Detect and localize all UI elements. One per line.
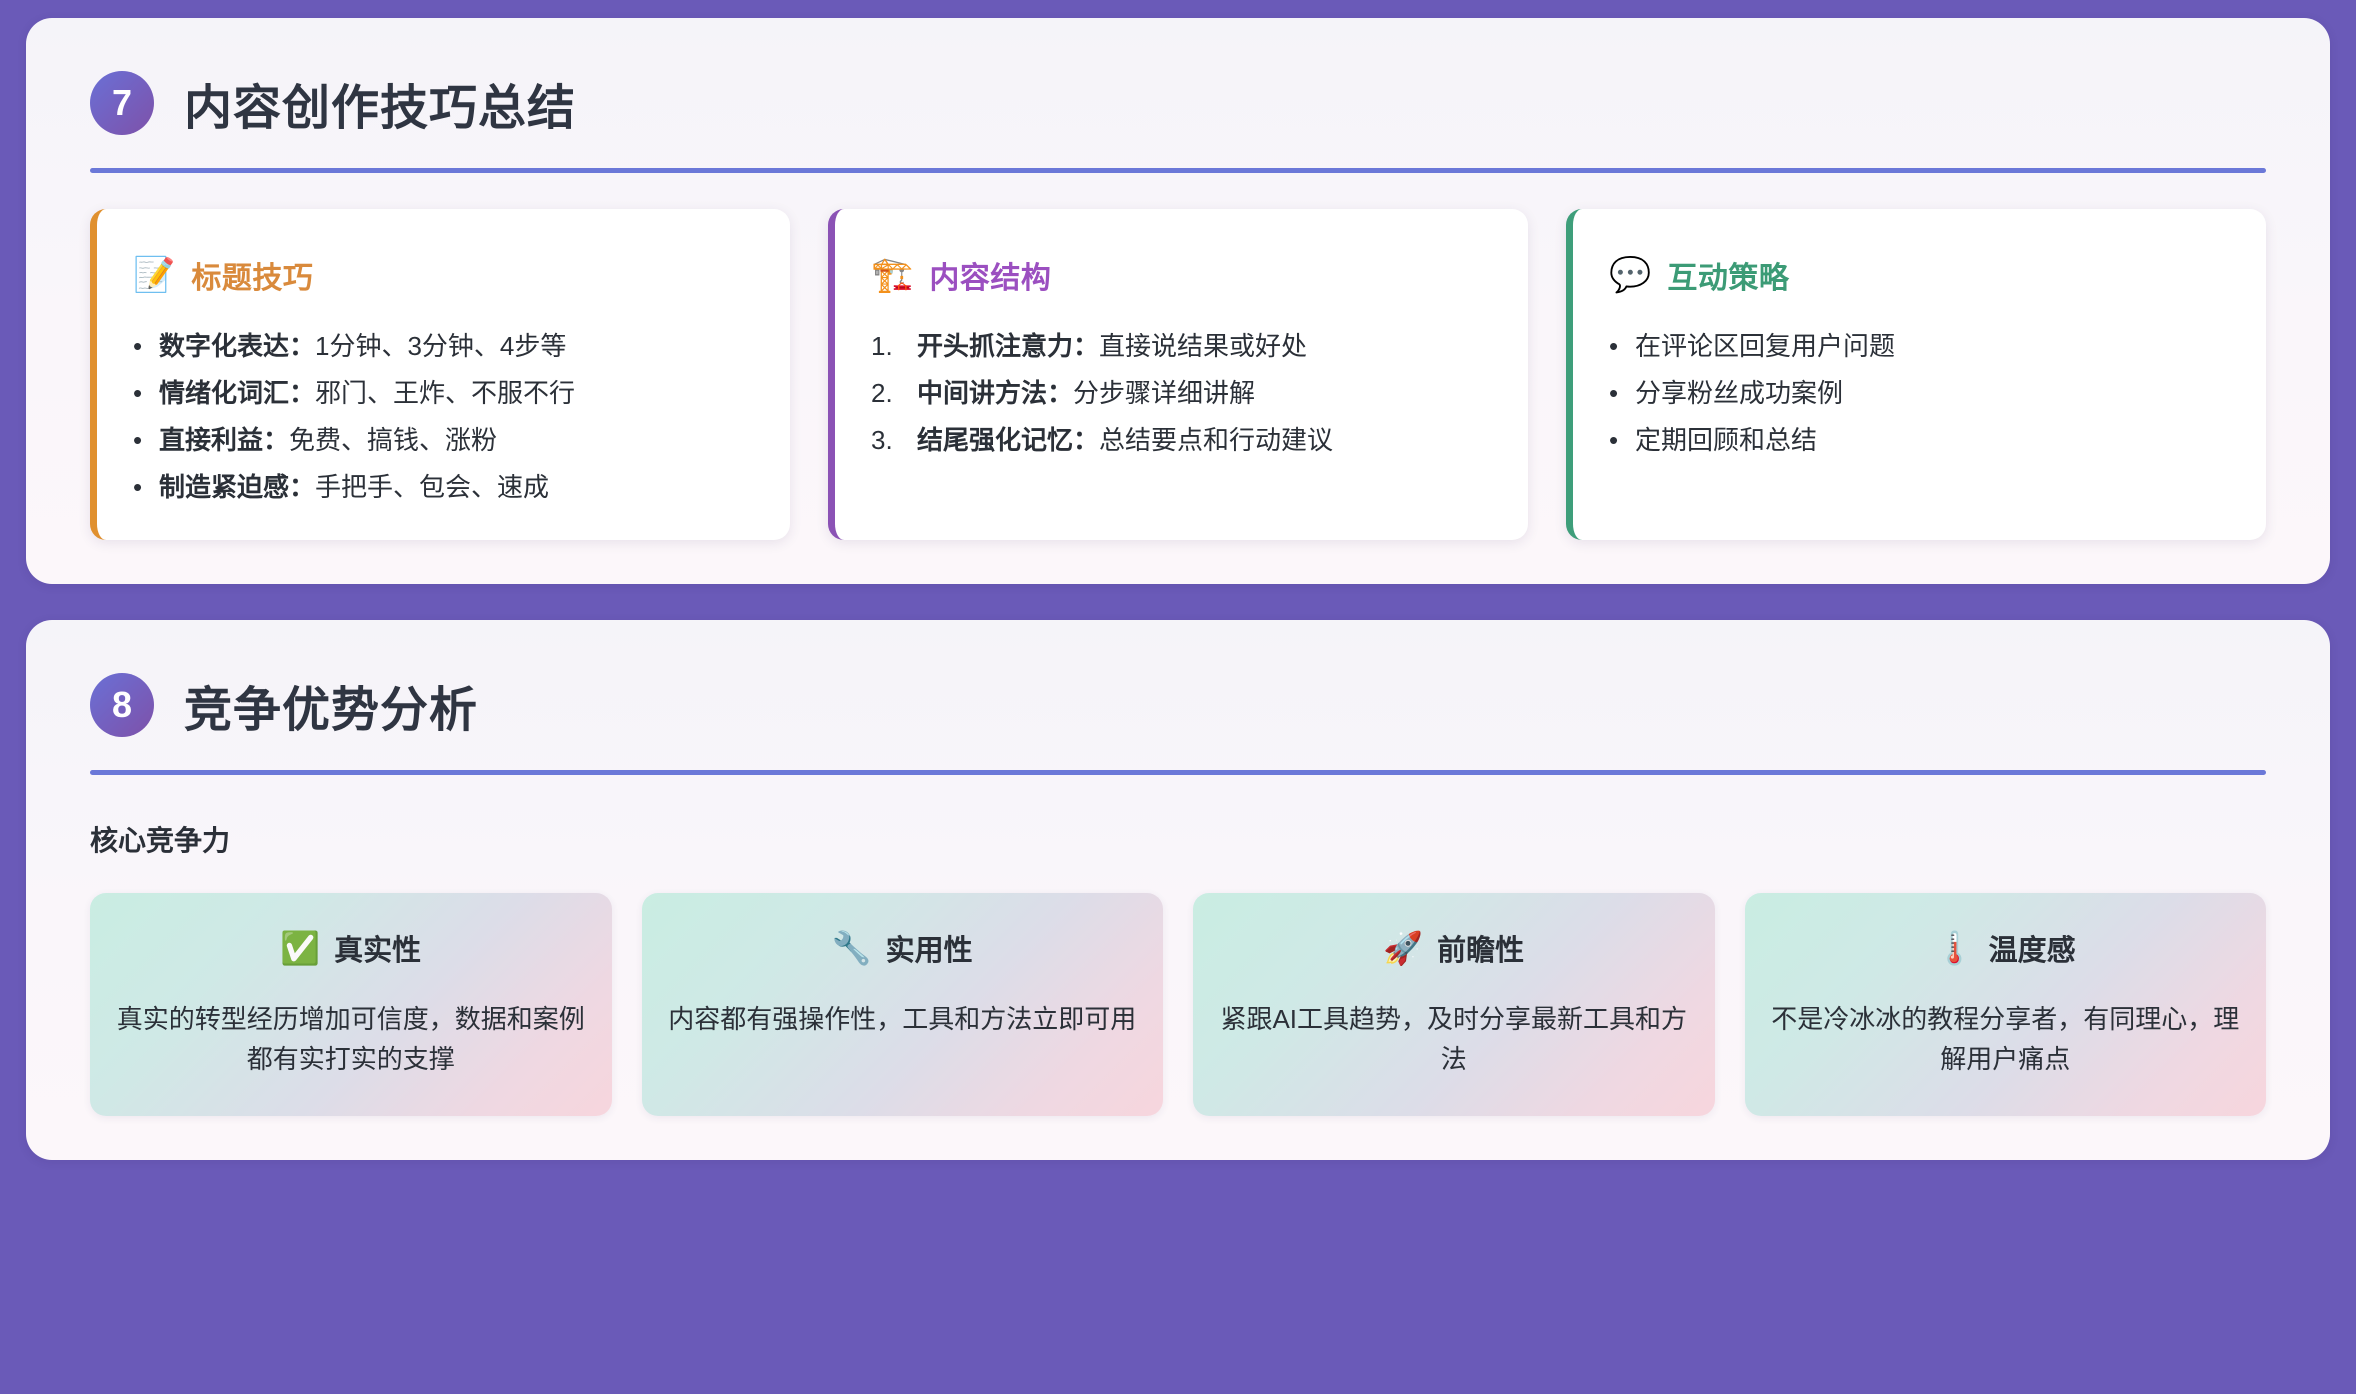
technique-card-title-skills[interactable]: 📝 标题技巧 •数字化表达：1分钟、3分钟、4步等•情绪化词汇：邪门、王炸、不服… bbox=[90, 209, 790, 540]
list-item-text: 数字化表达：1分钟、3分钟、4步等 bbox=[159, 333, 566, 359]
technique-card-interaction-strategy[interactable]: 💬 互动策略 •在评论区回复用户问题•分享粉丝成功案例•定期回顾和总结 bbox=[1566, 209, 2266, 540]
card-description: 紧跟AI工具趋势，及时分享最新工具和方法 bbox=[1219, 999, 1689, 1080]
technique-card-content-structure[interactable]: 🏗️ 内容结构 1.开头抓注意力：直接说结果或好处2.中间讲方法：分步骤详细讲解… bbox=[828, 209, 1528, 540]
card-header: 🚀 前瞻性 bbox=[1219, 927, 1689, 969]
list-item: •在评论区回复用户问题 bbox=[1609, 333, 2232, 380]
list-item-text: 中间讲方法：分步骤详细讲解 bbox=[917, 380, 1255, 406]
thermometer-icon: 🌡️ bbox=[1935, 932, 1975, 964]
card-title: 温度感 bbox=[1989, 927, 2076, 969]
list-item: 1.开头抓注意力：直接说结果或好处 bbox=[871, 333, 1494, 380]
competency-card-authenticity[interactable]: ✅ 真实性 真实的转型经历增加可信度，数据和案例都有实打实的支撑 bbox=[90, 893, 612, 1116]
list-item: •定期回顾和总结 bbox=[1609, 427, 2232, 453]
card-header: 📝 标题技巧 bbox=[133, 253, 756, 297]
list-item-label: 制造紧迫感： bbox=[159, 472, 315, 502]
list-item-label: 开头抓注意力： bbox=[917, 331, 1099, 361]
card-header: 💬 互动策略 bbox=[1609, 253, 2232, 297]
card-list: 1.开头抓注意力：直接说结果或好处2.中间讲方法：分步骤详细讲解3.结尾强化记忆… bbox=[871, 333, 1494, 453]
list-number: 1. bbox=[871, 333, 905, 359]
section-number-badge-8: 8 bbox=[90, 673, 154, 737]
speech-balloon-icon: 💬 bbox=[1609, 258, 1651, 292]
card-list: •数字化表达：1分钟、3分钟、4步等•情绪化词汇：邪门、王炸、不服不行•直接利益… bbox=[133, 333, 756, 500]
memo-icon: 📝 bbox=[133, 258, 175, 292]
card-title: 前瞻性 bbox=[1437, 927, 1524, 969]
crane-icon: 🏗️ bbox=[871, 258, 913, 292]
list-bullet: • bbox=[1609, 380, 1623, 406]
card-description: 不是冷冰冰的教程分享者，有同理心，理解用户痛点 bbox=[1771, 999, 2241, 1080]
technique-card-row: 📝 标题技巧 •数字化表达：1分钟、3分钟、4步等•情绪化词汇：邪门、王炸、不服… bbox=[90, 209, 2266, 540]
rocket-icon: 🚀 bbox=[1383, 932, 1423, 964]
check-mark-button-icon: ✅ bbox=[280, 932, 320, 964]
list-item-text: 情绪化词汇：邪门、王炸、不服不行 bbox=[159, 380, 575, 406]
list-bullet: • bbox=[1609, 427, 1623, 453]
card-title: 真实性 bbox=[334, 927, 421, 969]
card-description: 内容都有强操作性，工具和方法立即可用 bbox=[668, 999, 1138, 1039]
competency-card-foresight[interactable]: 🚀 前瞻性 紧跟AI工具趋势，及时分享最新工具和方法 bbox=[1193, 893, 1715, 1116]
card-title: 互动策略 bbox=[1667, 253, 1789, 297]
core-competency-subheading: 核心竞争力 bbox=[90, 819, 2288, 859]
list-number: 2. bbox=[871, 380, 905, 406]
section-header-8: 8 竞争优势分析 bbox=[68, 654, 2288, 744]
card-header: ✅ 真实性 bbox=[116, 927, 586, 969]
list-item-text: 分享粉丝成功案例 bbox=[1635, 380, 1843, 406]
list-bullet: • bbox=[133, 380, 147, 406]
card-list: •在评论区回复用户问题•分享粉丝成功案例•定期回顾和总结 bbox=[1609, 333, 2232, 453]
list-item: •情绪化词汇：邪门、王炸、不服不行 bbox=[133, 380, 756, 427]
wrench-icon: 🔧 bbox=[832, 932, 872, 964]
list-item: •直接利益：免费、搞钱、涨粉 bbox=[133, 427, 756, 474]
section-divider-8 bbox=[90, 770, 2266, 775]
list-item: •制造紧迫感：手把手、包会、速成 bbox=[133, 474, 756, 500]
section-header-7: 7 内容创作技巧总结 bbox=[68, 52, 2288, 142]
list-item-text: 定期回顾和总结 bbox=[1635, 427, 1817, 453]
competency-card-practicality[interactable]: 🔧 实用性 内容都有强操作性，工具和方法立即可用 bbox=[642, 893, 1164, 1116]
list-bullet: • bbox=[133, 333, 147, 359]
list-item: 2.中间讲方法：分步骤详细讲解 bbox=[871, 380, 1494, 427]
section-title-8: 竞争优势分析 bbox=[184, 670, 478, 740]
list-item-label: 数字化表达： bbox=[159, 331, 315, 361]
list-item-label: 情绪化词汇： bbox=[159, 378, 315, 408]
list-item-text: 直接利益：免费、搞钱、涨粉 bbox=[159, 427, 497, 453]
competency-card-warmth[interactable]: 🌡️ 温度感 不是冷冰冰的教程分享者，有同理心，理解用户痛点 bbox=[1745, 893, 2267, 1116]
card-description: 真实的转型经历增加可信度，数据和案例都有实打实的支撑 bbox=[116, 999, 586, 1080]
list-item-text: 在评论区回复用户问题 bbox=[1635, 333, 1895, 359]
competency-card-row: ✅ 真实性 真实的转型经历增加可信度，数据和案例都有实打实的支撑 🔧 实用性 内… bbox=[90, 893, 2266, 1116]
list-bullet: • bbox=[133, 474, 147, 500]
list-item-text: 制造紧迫感：手把手、包会、速成 bbox=[159, 474, 549, 500]
slide-root: 7 内容创作技巧总结 📝 标题技巧 •数字化表达：1分钟、3分钟、4步等•情绪化… bbox=[0, 0, 2356, 1394]
list-item: 3.结尾强化记忆：总结要点和行动建议 bbox=[871, 427, 1494, 453]
card-title: 标题技巧 bbox=[191, 253, 313, 297]
card-title: 内容结构 bbox=[929, 253, 1051, 297]
section-divider-7 bbox=[90, 168, 2266, 173]
list-bullet: • bbox=[1609, 333, 1623, 359]
card-header: 🌡️ 温度感 bbox=[1771, 927, 2241, 969]
list-number: 3. bbox=[871, 427, 905, 453]
list-item-label: 结尾强化记忆： bbox=[917, 425, 1099, 455]
list-item-label: 直接利益： bbox=[159, 425, 289, 455]
section-title-7: 内容创作技巧总结 bbox=[184, 68, 576, 138]
list-bullet: • bbox=[133, 427, 147, 453]
section-panel-7: 7 内容创作技巧总结 📝 标题技巧 •数字化表达：1分钟、3分钟、4步等•情绪化… bbox=[26, 18, 2330, 584]
card-header: 🏗️ 内容结构 bbox=[871, 253, 1494, 297]
section-number-badge-7: 7 bbox=[90, 71, 154, 135]
list-item-label: 中间讲方法： bbox=[917, 378, 1073, 408]
list-item: •数字化表达：1分钟、3分钟、4步等 bbox=[133, 333, 756, 380]
section-panel-8: 8 竞争优势分析 核心竞争力 ✅ 真实性 真实的转型经历增加可信度，数据和案例都… bbox=[26, 620, 2330, 1160]
card-title: 实用性 bbox=[886, 927, 973, 969]
list-item: •分享粉丝成功案例 bbox=[1609, 380, 2232, 427]
list-item-text: 开头抓注意力：直接说结果或好处 bbox=[917, 333, 1307, 359]
card-header: 🔧 实用性 bbox=[668, 927, 1138, 969]
list-item-text: 结尾强化记忆：总结要点和行动建议 bbox=[917, 427, 1333, 453]
